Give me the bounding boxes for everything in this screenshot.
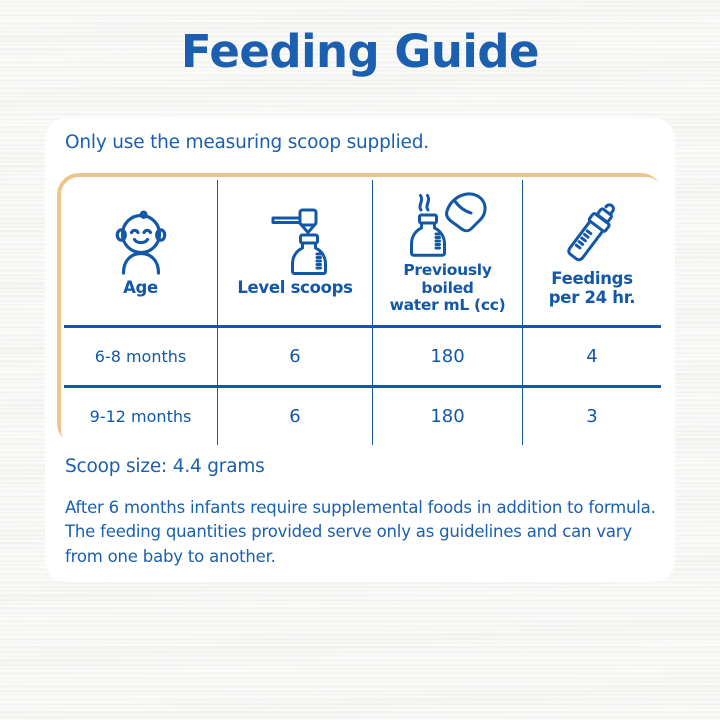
cell-age-row1: 6-8 months [63, 327, 218, 387]
pouring-kettle-icon [377, 186, 518, 258]
feeding-table-header: Age Lev [63, 179, 663, 327]
cell-scoops-row2: 6 [218, 387, 373, 447]
cell-feedings-row1: 4 [523, 327, 663, 387]
page-title: Feeding Guide [0, 25, 720, 78]
column-header-feedings: Feedings per 24 hr. [523, 179, 663, 327]
cell-feedings-row2: 3 [523, 387, 663, 447]
table-row: 6-8 months 6 180 4 [63, 327, 663, 387]
cell-water-row2: 180 [373, 387, 523, 447]
measuring-scoop-icon [222, 203, 368, 275]
column-header-boiled-water: Previously boiled water mL (cc) [373, 179, 523, 327]
baby-bottle-icon [527, 194, 657, 266]
cell-scoops-row1: 6 [218, 327, 373, 387]
feeding-table: Age Lev [61, 177, 664, 448]
column-header-level-scoops: Level scoops [218, 179, 373, 327]
guideline-note-text: After 6 months infants require supplemen… [65, 496, 665, 569]
column-header-feedings-label: Feedings [527, 270, 657, 288]
column-header-boiled-water-label: Previously boiled [377, 262, 518, 297]
column-header-level-scoops-label: Level scoops [222, 279, 368, 297]
cell-age-row2: 9-12 months [63, 387, 218, 447]
baby-face-icon [68, 203, 213, 275]
scoop-size-text: Scoop size: 4.4 grams [65, 456, 265, 477]
feeding-table-body: 6-8 months 6 180 4 9-12 months 6 180 3 [63, 327, 663, 447]
feeding-table-border: Age Lev [57, 173, 663, 445]
cell-water-row1: 180 [373, 327, 523, 387]
table-header-row: Age Lev [63, 179, 663, 327]
column-header-feedings-label-line2: per 24 hr. [527, 289, 657, 307]
column-header-boiled-water-label-line2: water mL (cc) [377, 297, 518, 314]
intro-instruction-text: Only use the measuring scoop supplied. [65, 132, 429, 153]
feeding-guide-card: Only use the measuring scoop supplied. [45, 118, 675, 582]
table-row: 9-12 months 6 180 3 [63, 387, 663, 447]
column-header-age-label: Age [68, 279, 213, 297]
column-header-age: Age [63, 179, 218, 327]
